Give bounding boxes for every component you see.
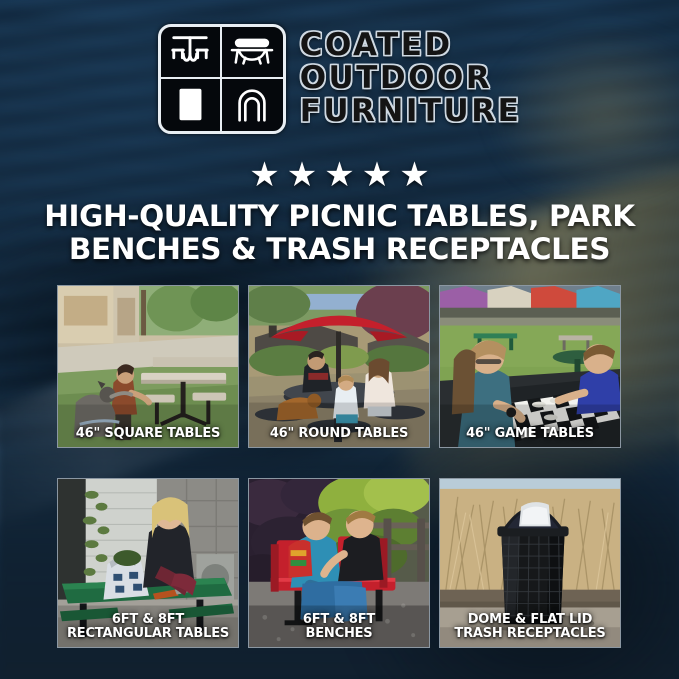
brand-name: COATED OUTDOOR FURNITURE (300, 30, 522, 128)
bike-rack-icon (222, 79, 283, 131)
park-bench-icon (222, 27, 283, 79)
product-tile-round-tables[interactable]: 46" ROUND TABLES (248, 285, 430, 448)
product-tile-square-tables[interactable]: 46" SQUARE TABLES (57, 285, 239, 448)
brand-name-line-1: COATED (300, 30, 522, 62)
product-caption-line-1: 46" ROUND TABLES (252, 427, 426, 441)
star-icon: ★ (362, 158, 392, 192)
logo-icon-grid (158, 24, 286, 134)
headline-line-1: HIGH-QUALITY PICNIC TABLES, PARK (26, 200, 653, 233)
brand-name-line-3: FURNITURE (300, 96, 522, 128)
star-icon: ★ (399, 158, 429, 192)
headline: HIGH-QUALITY PICNIC TABLES, PARK BENCHES… (0, 200, 679, 266)
product-caption-line-1: 6FT & 8FT (252, 613, 426, 627)
promotional-banner: COATED OUTDOOR FURNITURE ★ ★ ★ ★ ★ HIGH-… (0, 0, 679, 679)
product-caption-game-tables: 46" GAME TABLES (440, 427, 620, 441)
star-icon: ★ (287, 158, 317, 192)
product-caption-line-1: DOME & FLAT LID (443, 613, 617, 627)
product-caption-square-tables: 46" SQUARE TABLES (58, 427, 238, 441)
product-caption-line-2: TRASH RECEPTACLES (443, 627, 617, 641)
product-tile-rectangular-tables[interactable]: 6FT & 8FT RECTANGULAR TABLES (57, 478, 239, 648)
product-caption-round-tables: 46" ROUND TABLES (249, 427, 429, 441)
product-photo-game-tables (440, 286, 620, 447)
product-caption-line-2: BENCHES (252, 627, 426, 641)
product-grid: 46" SQUARE TABLES (57, 285, 623, 648)
trash-receptacle-icon (161, 79, 222, 131)
brand-logo: COATED OUTDOOR FURNITURE (0, 24, 679, 134)
star-icon: ★ (324, 158, 354, 192)
product-caption-line-2: RECTANGULAR TABLES (61, 627, 235, 641)
product-tile-trash-receptacles[interactable]: DOME & FLAT LID TRASH RECEPTACLES (439, 478, 621, 648)
product-caption-benches: 6FT & 8FT BENCHES (249, 613, 429, 641)
product-photo-square-tables (58, 286, 238, 447)
product-caption-rectangular-tables: 6FT & 8FT RECTANGULAR TABLES (58, 613, 238, 641)
star-icon: ★ (249, 158, 279, 192)
product-caption-trash-receptacles: DOME & FLAT LID TRASH RECEPTACLES (440, 613, 620, 641)
product-photo-round-tables (249, 286, 429, 447)
star-rating: ★ ★ ★ ★ ★ (0, 158, 679, 192)
product-caption-line-1: 6FT & 8FT (61, 613, 235, 627)
headline-line-2: BENCHES & TRASH RECEPTACLES (26, 233, 653, 266)
brand-name-line-2: OUTDOOR (300, 63, 522, 95)
product-caption-line-1: 46" GAME TABLES (443, 427, 617, 441)
product-caption-line-1: 46" SQUARE TABLES (61, 427, 235, 441)
product-tile-benches[interactable]: 6FT & 8FT BENCHES (248, 478, 430, 648)
product-tile-game-tables[interactable]: 46" GAME TABLES (439, 285, 621, 448)
picnic-table-icon (161, 27, 222, 79)
